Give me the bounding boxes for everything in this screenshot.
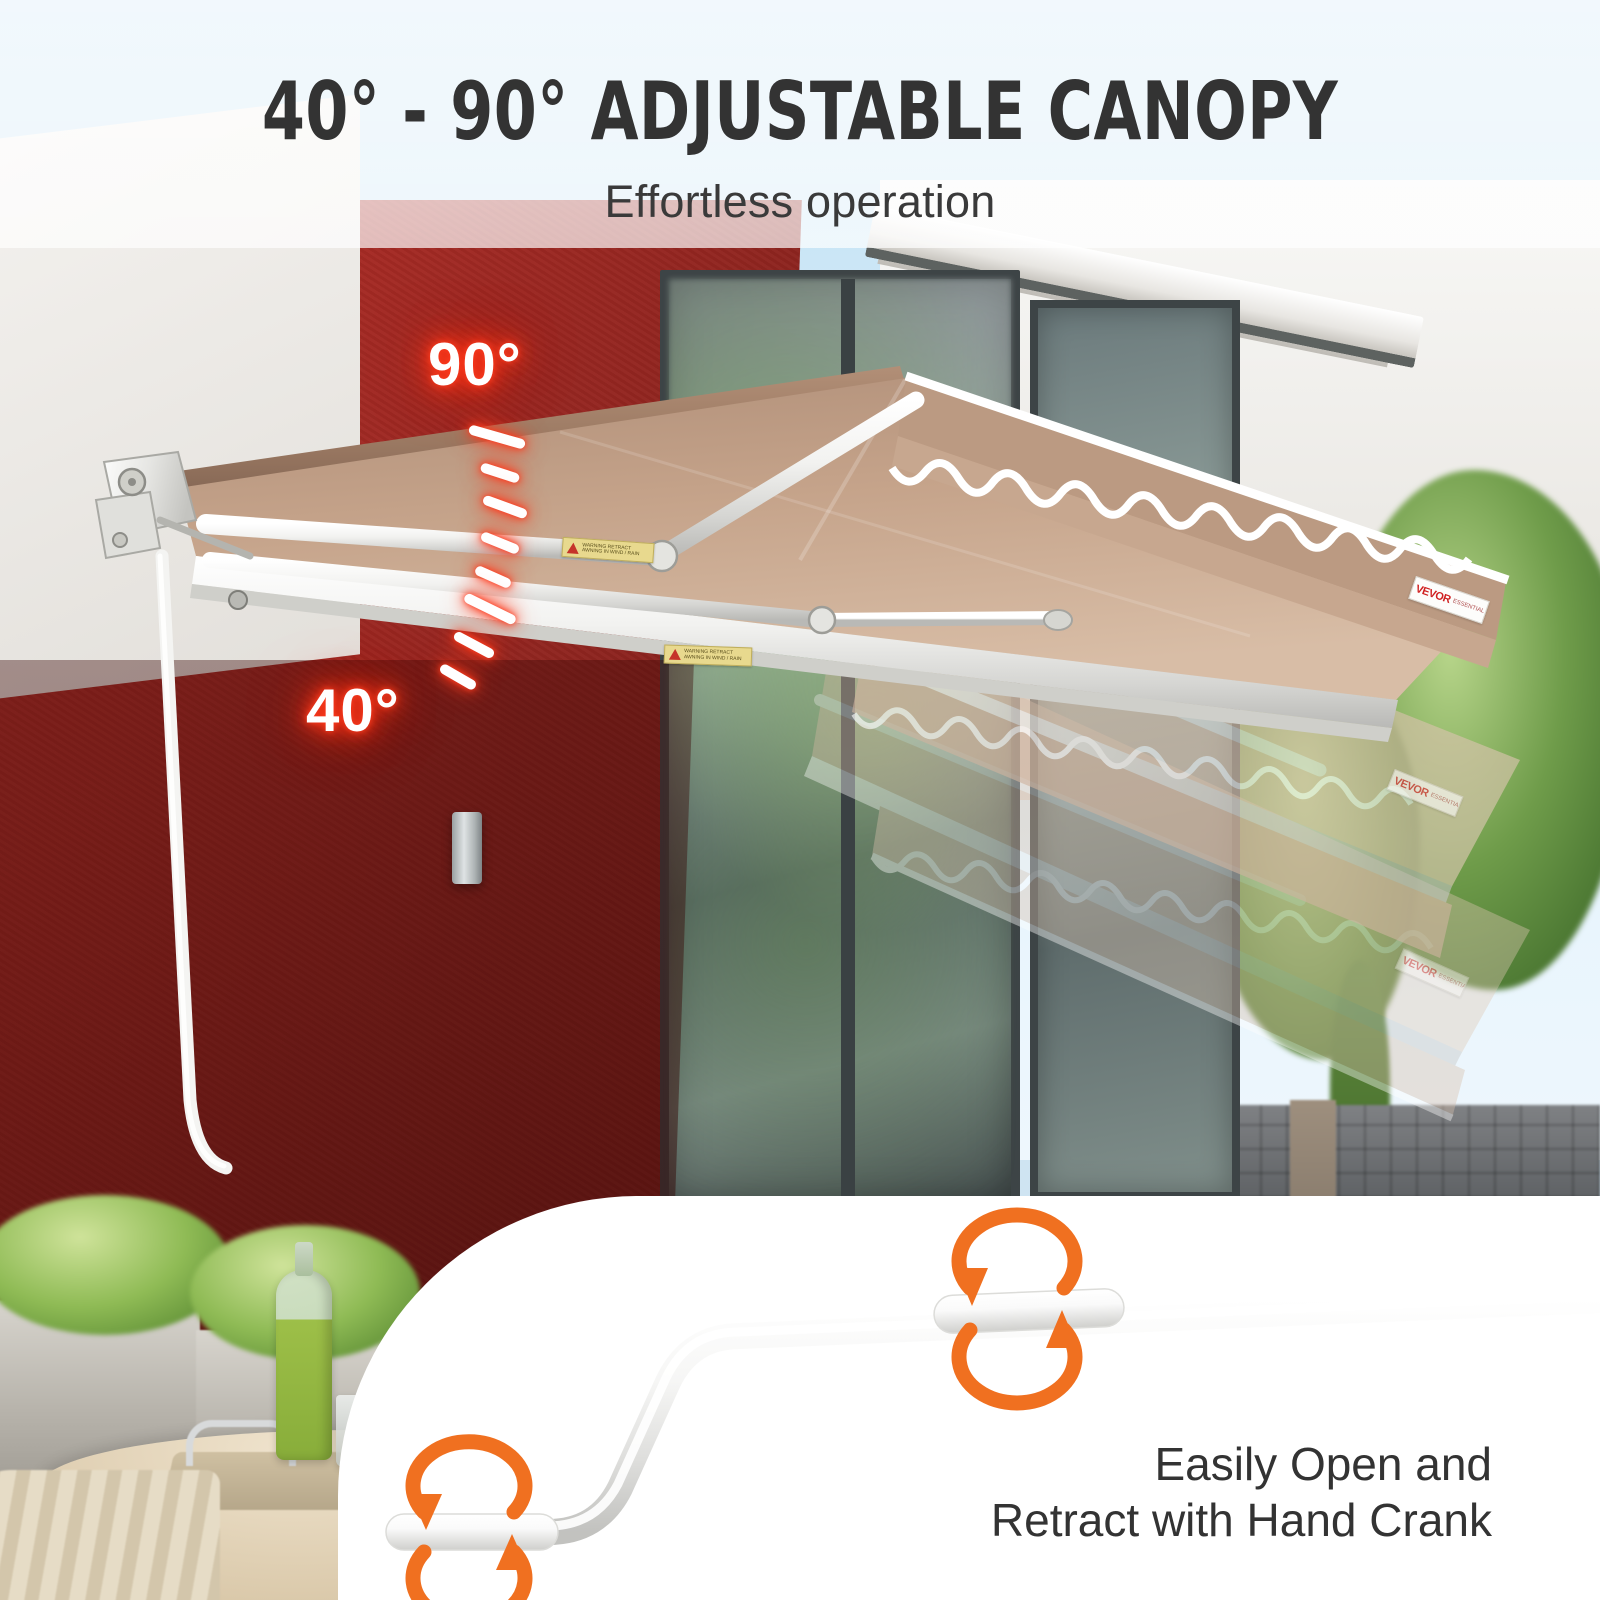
banner: 40° - 90° ADJUSTABLE CANOPY Effortless o…	[0, 0, 1600, 228]
page-subtitle: Effortless operation	[0, 152, 1600, 228]
sliding-glass-door	[660, 270, 1020, 1210]
glass-bottle	[276, 1270, 332, 1460]
patio-chair	[0, 1470, 220, 1600]
crank-handle-grip	[386, 1514, 558, 1550]
hazard-triangle-icon	[567, 542, 580, 554]
angle-callout-max: 90°	[428, 330, 522, 399]
glass-reflection	[669, 279, 1011, 1201]
angle-callout-min: 40°	[306, 676, 400, 745]
warning-sticker: WARNING RETRACT AWNING IN WIND / RAIN	[664, 644, 753, 666]
door-mullion	[841, 279, 855, 1201]
hazard-triangle-icon	[669, 649, 681, 660]
inset-caption: Easily Open and Retract with Hand Crank	[991, 1436, 1492, 1548]
wall-lamp	[452, 812, 482, 884]
warning-text: WARNING RETRACT AWNING IN WIND / RAIN	[582, 543, 650, 558]
page-title: 40° - 90° ADJUSTABLE CANOPY	[112, 0, 1488, 152]
crank-coupler-grip	[933, 1288, 1124, 1334]
product-marketing-image: VEVOR ESSENTIAL TOOLS FOR PROS VEVOR ESS…	[0, 0, 1600, 1600]
vevor-wordmark: VEVOR	[1414, 583, 1452, 605]
caption-line-2: Retract with Hand Crank	[991, 1492, 1492, 1548]
caption-line-1: Easily Open and	[991, 1436, 1492, 1492]
glass-panel-right	[1030, 300, 1240, 1200]
warning-text: WARNING RETRACT AWNING IN WIND / RAIN	[684, 649, 747, 662]
